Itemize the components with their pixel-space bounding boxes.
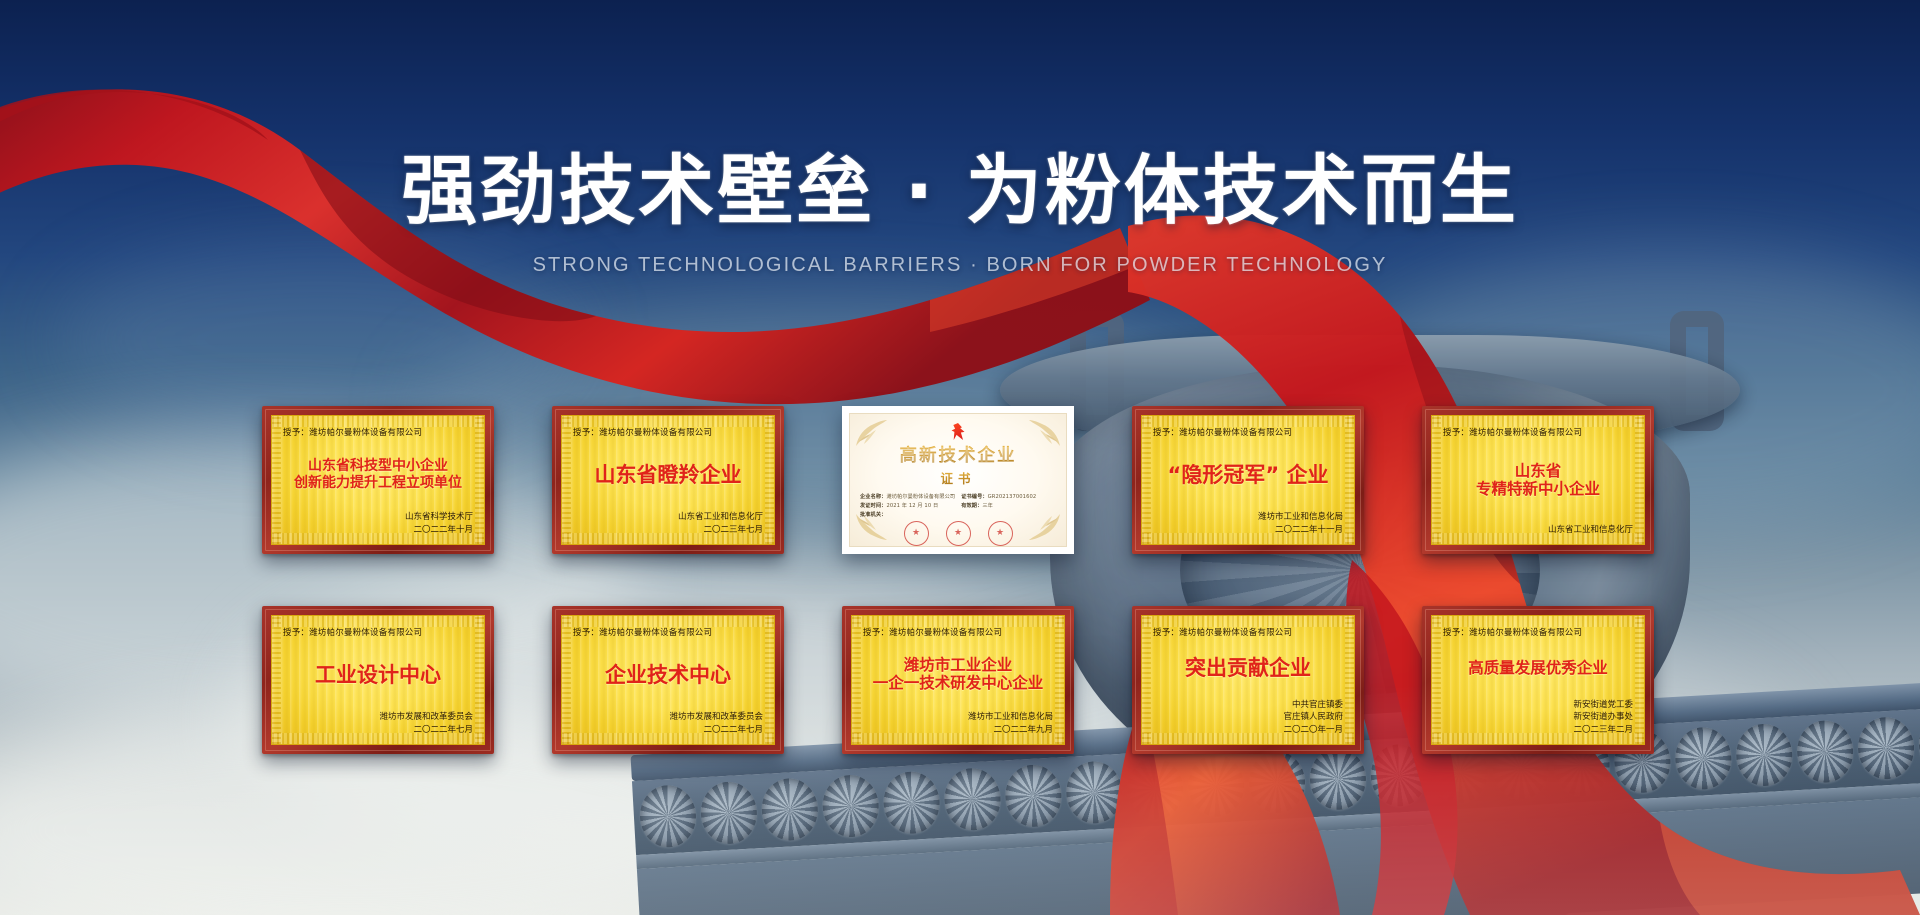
certificate-field: 发证时间：2021 年 12 月 10 日 (860, 502, 955, 509)
certificate-field: 有效期：三年 (961, 502, 1056, 509)
frieze-medallion (638, 784, 697, 849)
certificate-grid: 授予：潍坊帕尔曼粉体设备有限公司山东省科技型中小企业创新能力提升工程立项单位山东… (262, 406, 1674, 754)
plaque-title: “隐形冠军” 企业 (1153, 438, 1343, 511)
plaque-issuer-line: 潍坊市发展和改革委员会 (283, 711, 473, 723)
plaque-issuer-line: 山东省科学技术厅 (283, 511, 473, 523)
plaque-issuer: 潍坊市发展和改革委员会二〇二二年七月 (573, 711, 763, 736)
plaque-title-line: 潍坊市工业企业 (904, 657, 1013, 675)
plaque-issuer-line: 官庄镇人民政府 (1153, 711, 1343, 723)
hero-banner: 强劲技术壁垒 · 为粉体技术而生 STRONG TECHNOLOGICAL BA… (0, 0, 1920, 915)
plaque-issuer-line: 二〇二〇年一月 (1153, 724, 1343, 736)
plaque-issuer-line: 二〇二二年十月 (283, 524, 473, 536)
frieze-medallion (1004, 763, 1063, 828)
certificate-field: 批准机关： (860, 511, 955, 518)
certificate-field-label: 批准机关： (860, 512, 886, 518)
plaque-title: 企业技术中心 (573, 638, 763, 711)
plaque-issuer: 潍坊市发展和改革委员会二〇二二年七月 (283, 711, 473, 736)
page-subtitle: STRONG TECHNOLOGICAL BARRIERS · BORN FOR… (0, 254, 1920, 277)
frieze-medallion (821, 774, 880, 839)
plaque-title-line: 山东省 (1515, 463, 1562, 481)
certificate-field-label: 企业名称： (860, 494, 886, 500)
award-plaque[interactable]: 授予：潍坊帕尔曼粉体设备有限公司“隐形冠军” 企业潍坊市工业和信息化局二〇二二年… (1132, 406, 1364, 554)
official-seal-icon: ★ (988, 521, 1013, 546)
award-plaque[interactable]: 授予：潍坊帕尔曼粉体设备有限公司潍坊市工业企业一企一技术研发中心企业潍坊市工业和… (842, 606, 1074, 754)
award-plaque[interactable]: 授予：潍坊帕尔曼粉体设备有限公司工业设计中心潍坊市发展和改革委员会二〇二二年七月 (262, 606, 494, 754)
frieze-medallion (943, 767, 1002, 832)
plaque-title-line: 专精特新中小企业 (1476, 481, 1600, 499)
plaque-issuer-line: 潍坊市工业和信息化局 (863, 711, 1053, 723)
plaque-issuer-line: 二〇二二年七月 (283, 724, 473, 736)
plaque-issuer: 中共官庄镇委官庄镇人民政府二〇二〇年一月 (1153, 699, 1343, 736)
plaque-issuer-line: 潍坊市工业和信息化局 (1153, 511, 1343, 523)
plaque-issuer-line: 潍坊市发展和改革委员会 (573, 711, 763, 723)
plaque-award-line: 授予：潍坊帕尔曼粉体设备有限公司 (1153, 626, 1343, 638)
plaque-issuer: 潍坊市工业和信息化局二〇二二年十一月 (1153, 511, 1343, 536)
plaque-award-line: 授予：潍坊帕尔曼粉体设备有限公司 (283, 626, 473, 638)
plaque-title: 山东省专精特新中小企业 (1443, 438, 1633, 524)
certificate-field: 证书编号：GR202137001602 (961, 493, 1056, 500)
certificate-seals: ★★★ (904, 521, 1013, 546)
frieze-medallion (1126, 757, 1185, 822)
frieze-medallion (882, 770, 941, 835)
plaque-award-line: 授予：潍坊帕尔曼粉体设备有限公司 (1153, 426, 1343, 438)
frieze-medallion (1795, 719, 1854, 784)
plaque-issuer-line: 二〇二二年九月 (863, 724, 1053, 736)
frieze-medallion (760, 777, 819, 842)
plaque-issuer-line: 山东省工业和信息化厅 (1443, 524, 1633, 536)
plaque-issuer-line: 山东省工业和信息化厅 (573, 511, 763, 523)
plaque-award-line: 授予：潍坊帕尔曼粉体设备有限公司 (573, 626, 763, 638)
frieze-medallion (699, 780, 758, 845)
award-plaque[interactable]: 授予：潍坊帕尔曼粉体设备有限公司突出贡献企业中共官庄镇委官庄镇人民政府二〇二〇年… (1132, 606, 1364, 754)
plaque-title-line: “隐形冠军” 企业 (1168, 463, 1329, 487)
plaque-issuer-line: 二〇二二年十一月 (1153, 524, 1343, 536)
frieze-medallion (1186, 753, 1245, 818)
plaque-issuer-line: 新安街道办事处 (1443, 711, 1633, 723)
plaque-award-line: 授予：潍坊帕尔曼粉体设备有限公司 (863, 626, 1053, 638)
certificate-subtitle: 证书 (940, 468, 975, 487)
official-seal-icon: ★ (904, 521, 929, 546)
frieze-medallion (1065, 760, 1124, 825)
frieze-medallion (1308, 746, 1367, 811)
certificate-field-value: 三年 (982, 503, 993, 509)
plaque-title-line: 创新能力提升工程立项单位 (294, 475, 462, 491)
plaque-title-line: 企业技术中心 (605, 663, 731, 687)
frieze-medallion (1856, 716, 1915, 781)
certificate-field-label: 证书编号： (961, 494, 987, 500)
certificate-field-label: 发证时间： (860, 503, 886, 509)
plaque-title: 山东省瞪羚企业 (573, 438, 763, 511)
banner-headline-block: 强劲技术壁垒 · 为粉体技术而生 STRONG TECHNOLOGICAL BA… (0, 150, 1920, 277)
corner-ornament-icon (854, 418, 888, 448)
certificate-field-value: 2021 年 12 月 10 日 (886, 503, 938, 509)
certificate-fields: 企业名称：潍坊帕尔曼粉体设备有限公司证书编号：GR202137001602发证时… (850, 493, 1066, 518)
plaque-issuer: 山东省工业和信息化厅二〇二三年七月 (573, 511, 763, 536)
plaque-issuer-line: 新安街道党工委 (1443, 699, 1633, 711)
award-plaque[interactable]: 授予：潍坊帕尔曼粉体设备有限公司山东省瞪羚企业山东省工业和信息化厅二〇二三年七月 (552, 406, 784, 554)
plaque-award-line: 授予：潍坊帕尔曼粉体设备有限公司 (283, 426, 473, 438)
certificate-field: 企业名称：潍坊帕尔曼粉体设备有限公司 (860, 493, 955, 500)
plaque-issuer: 山东省科学技术厅二〇二二年十月 (283, 511, 473, 536)
plaque-issuer-line: 二〇二三年七月 (573, 524, 763, 536)
plaque-issuer-line: 二〇二三年二月 (1443, 724, 1633, 736)
corner-ornament-icon (1028, 418, 1062, 448)
plaque-title: 山东省科技型中小企业创新能力提升工程立项单位 (283, 438, 473, 511)
official-seal-icon: ★ (946, 521, 971, 546)
plaque-issuer-line: 二〇二二年七月 (573, 724, 763, 736)
award-plaque[interactable]: 授予：潍坊帕尔曼粉体设备有限公司高质量发展优秀企业新安街道党工委新安街道办事处二… (1422, 606, 1654, 754)
plaque-title: 突出贡献企业 (1153, 638, 1343, 699)
plaque-title: 工业设计中心 (283, 638, 473, 711)
certificate-field-value: GR202137001602 (988, 494, 1037, 500)
plaque-issuer: 山东省工业和信息化厅 (1443, 524, 1633, 536)
plaque-title: 潍坊市工业企业一企一技术研发中心企业 (863, 638, 1053, 711)
plaque-award-line: 授予：潍坊帕尔曼粉体设备有限公司 (573, 426, 763, 438)
high-tech-enterprise-certificate[interactable]: 高新技术企业证书企业名称：潍坊帕尔曼粉体设备有限公司证书编号：GR2021370… (842, 406, 1074, 554)
flame-icon (949, 423, 967, 440)
plaque-title-line: 一企一技术研发中心企业 (873, 675, 1044, 693)
frieze-medallion (1247, 750, 1306, 815)
plaque-title-line: 高质量发展优秀企业 (1468, 660, 1608, 678)
plaque-title-line: 突出贡献企业 (1185, 656, 1311, 680)
plaque-award-line: 授予：潍坊帕尔曼粉体设备有限公司 (1443, 626, 1633, 638)
certificate-title: 高新技术企业 (900, 442, 1017, 467)
frieze-medallion (1735, 722, 1794, 787)
plaque-award-line: 授予：潍坊帕尔曼粉体设备有限公司 (1443, 426, 1633, 438)
plaque-title-line: 山东省瞪羚企业 (595, 463, 742, 487)
plaque-issuer: 潍坊市工业和信息化局二〇二二年九月 (863, 711, 1053, 736)
page-title: 强劲技术壁垒 · 为粉体技术而生 (0, 150, 1920, 232)
plaque-title: 高质量发展优秀企业 (1443, 638, 1633, 699)
plaque-issuer-line: 中共官庄镇委 (1153, 699, 1343, 711)
award-plaque[interactable]: 授予：潍坊帕尔曼粉体设备有限公司山东省专精特新中小企业山东省工业和信息化厅 (1422, 406, 1654, 554)
certificate-field-value: 潍坊帕尔曼粉体设备有限公司 (886, 494, 955, 500)
plaque-issuer: 新安街道党工委新安街道办事处二〇二三年二月 (1443, 699, 1633, 736)
certificate-field-label: 有效期： (961, 503, 982, 509)
award-plaque[interactable]: 授予：潍坊帕尔曼粉体设备有限公司山东省科技型中小企业创新能力提升工程立项单位山东… (262, 406, 494, 554)
frieze-medallion (1674, 726, 1733, 791)
plaque-title-line: 工业设计中心 (315, 663, 441, 687)
plaque-title-line: 山东省科技型中小企业 (308, 458, 448, 474)
award-plaque[interactable]: 授予：潍坊帕尔曼粉体设备有限公司企业技术中心潍坊市发展和改革委员会二〇二二年七月 (552, 606, 784, 754)
